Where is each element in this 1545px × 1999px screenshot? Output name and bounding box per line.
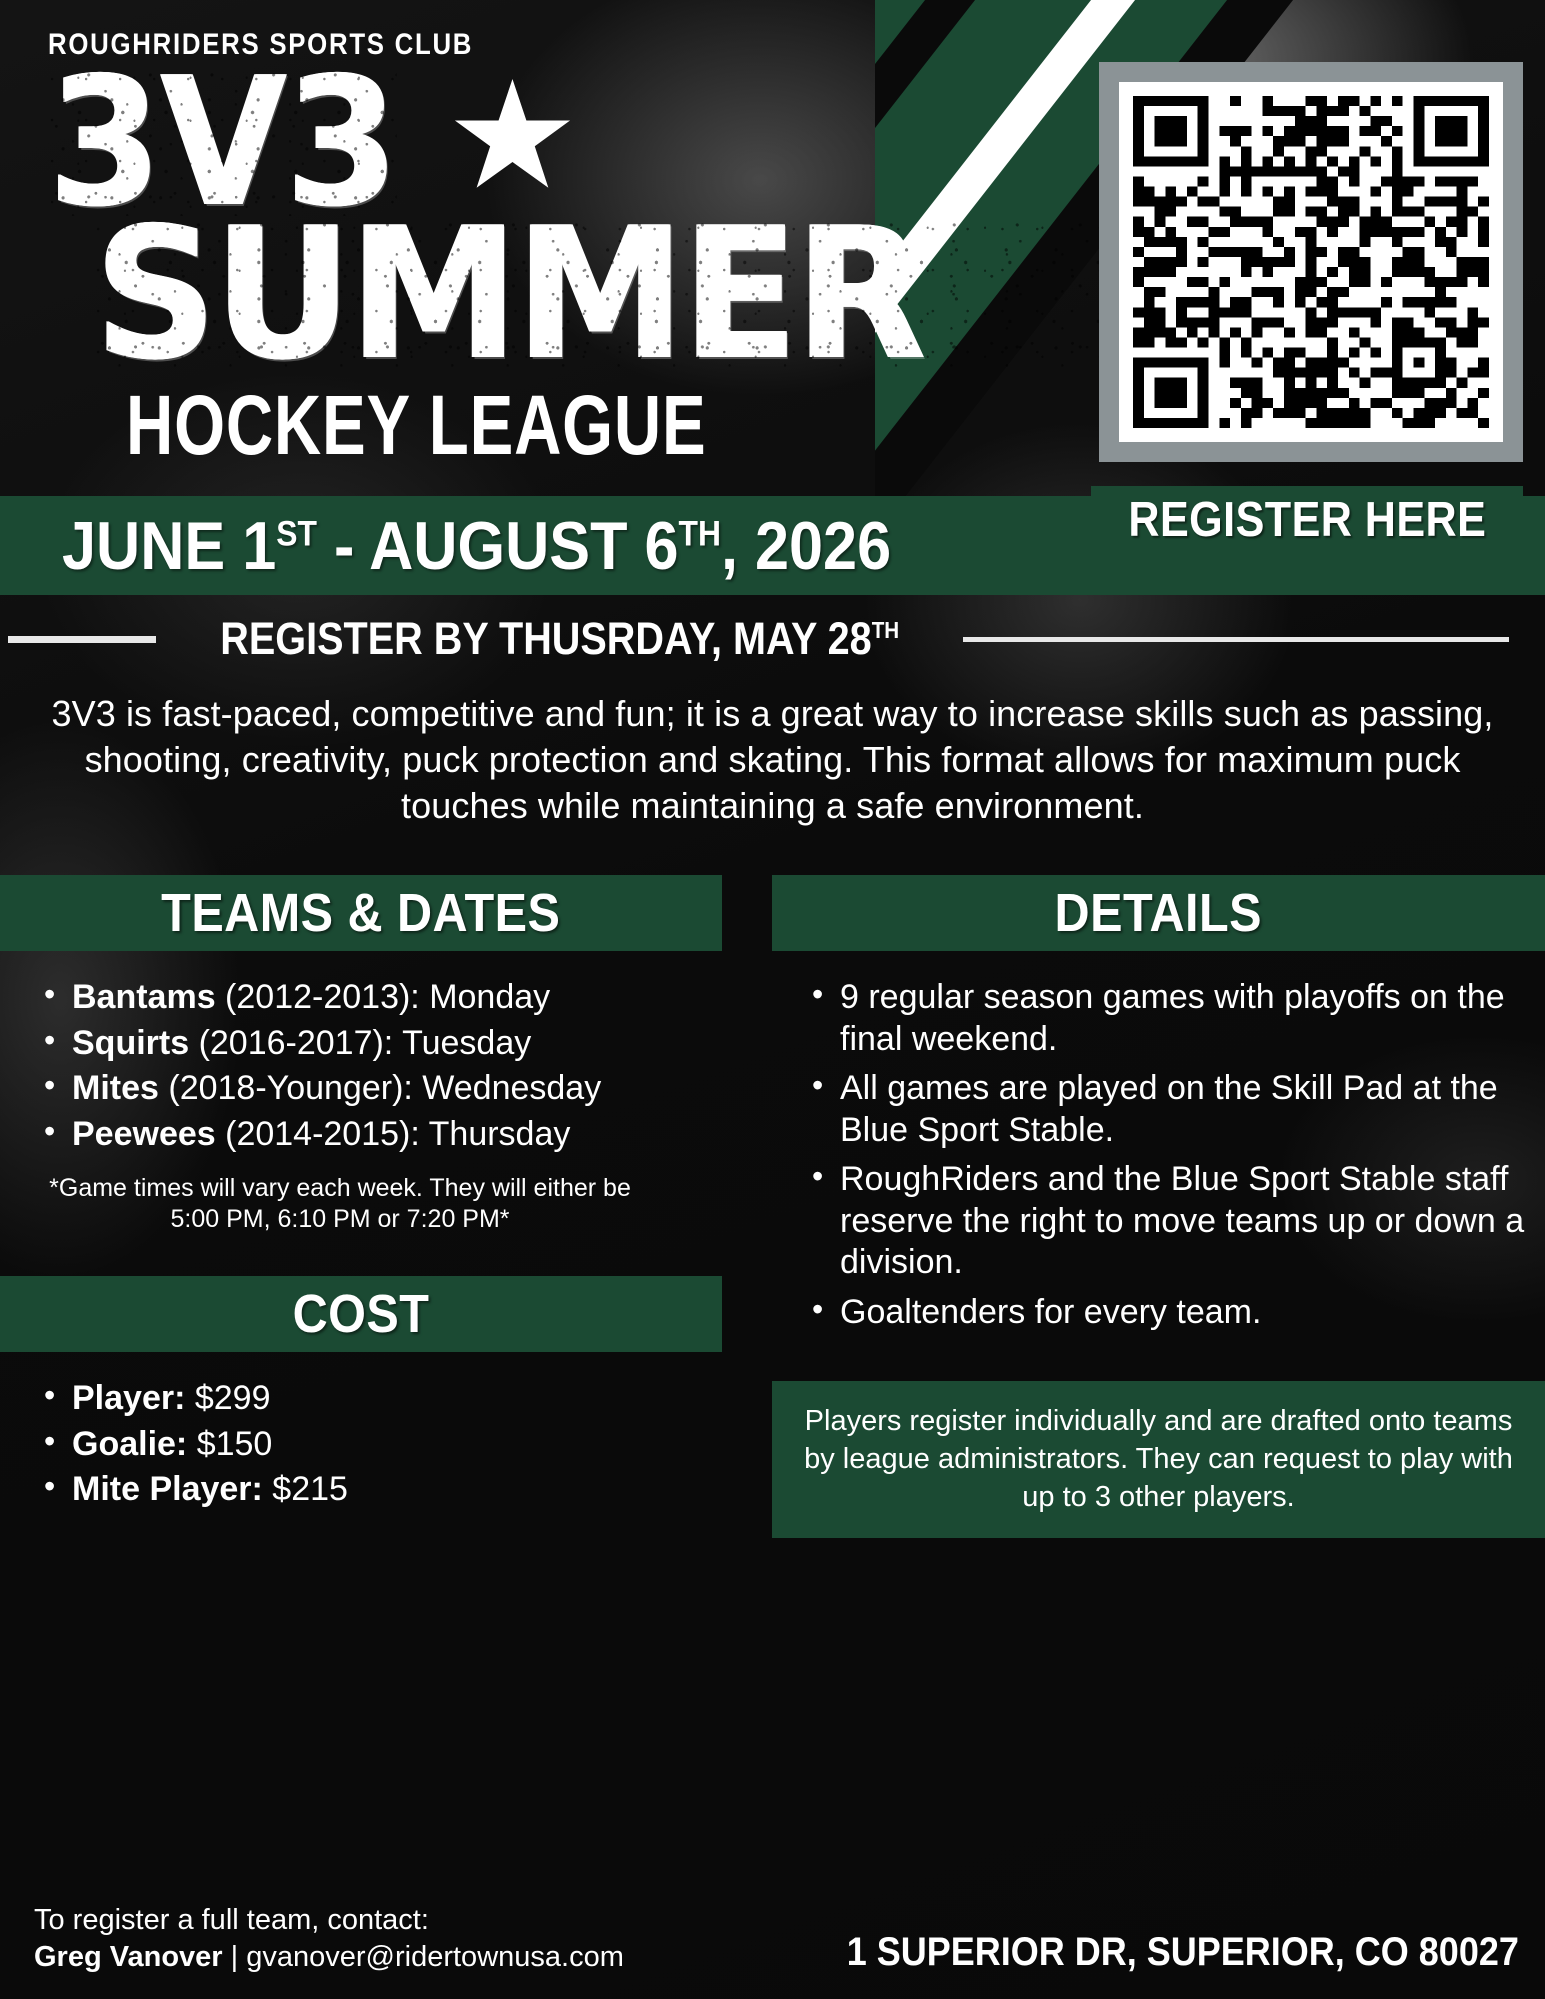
section-title-details: DETAILS (1055, 882, 1262, 944)
qr-code-icon[interactable] (1133, 96, 1489, 428)
team-detail: (2016-2017): Tuesday (189, 1024, 531, 1062)
team-name: Mites (72, 1069, 159, 1107)
register-by-pre: REGISTER BY THUSRDAY, MAY 28 (220, 613, 871, 664)
team-detail: (2014-2015): Thursday (216, 1115, 571, 1153)
contact-line: Greg Vanover | gvanover@ridertownusa.com (34, 1939, 624, 1977)
date-range: JUNE 1ST - AUGUST 6TH, 2026 (62, 507, 891, 585)
title-summer-text: SUMMER (94, 188, 923, 400)
contact-email[interactable]: gvanover@ridertownusa.com (246, 1941, 624, 1973)
cost-label: Mite Player: (72, 1470, 263, 1508)
section-header-cost: COST (0, 1276, 722, 1352)
body-columns: TEAMS & DATES Bantams (2012-2013): Monda… (0, 875, 1545, 1538)
date-range-pre: JUNE 1 (62, 508, 276, 584)
cost-label: Player: (72, 1379, 185, 1417)
team-detail: (2018-Younger): Wednesday (159, 1069, 601, 1107)
list-item: Mite Player: $215 (22, 1469, 730, 1510)
teams-list: Bantams (2012-2013): Monday Squirts (201… (22, 977, 730, 1155)
list-item: Peewees (2014-2015): Thursday (22, 1114, 730, 1155)
cost-label: Goalie: (72, 1425, 187, 1463)
date-ordinal-2: TH (679, 514, 721, 553)
registration-note: Players register individually and are dr… (772, 1381, 1545, 1538)
cost-list: Player: $299 Goalie: $150 Mite Player: $… (22, 1378, 730, 1510)
game-times-footnote: *Game times will vary each week. They wi… (40, 1173, 640, 1234)
list-item: All games are played on the Skill Pad at… (790, 1068, 1545, 1151)
qr-block[interactable]: REGISTER HERE (1099, 62, 1523, 554)
team-name: Bantams (72, 978, 216, 1016)
section-title-teams-dates: TEAMS & DATES (161, 882, 560, 944)
qr-frame (1099, 62, 1523, 462)
section-header-teams-dates: TEAMS & DATES (0, 875, 722, 951)
team-name: Peewees (72, 1115, 216, 1153)
cost-value: $215 (263, 1470, 348, 1508)
register-here-label: REGISTER HERE (1128, 492, 1486, 548)
team-detail: (2012-2013): Monday (216, 978, 551, 1016)
left-column: TEAMS & DATES Bantams (2012-2013): Monda… (0, 875, 730, 1514)
team-name: Squirts (72, 1024, 189, 1062)
register-by-ordinal: TH (872, 617, 899, 643)
register-here-button[interactable]: REGISTER HERE (1091, 486, 1523, 554)
cost-section: COST Player: $299 Goalie: $150 Mite Play… (0, 1276, 730, 1510)
date-range-mid: - AUGUST 6 (317, 508, 679, 584)
right-column: DETAILS 9 regular season games with play… (730, 875, 1545, 1538)
divider-right (963, 637, 1509, 642)
list-item: Squirts (2016-2017): Tuesday (22, 1023, 730, 1064)
contact-name: Greg Vanover (34, 1941, 223, 1973)
cost-value: $299 (185, 1379, 270, 1417)
intro-paragraph: 3V3 is fast-paced, competitive and fun; … (34, 691, 1511, 829)
footer: To register a full team, contact: Greg V… (0, 1902, 1545, 1977)
flyer-root: ROUGHRIDERS SPORTS CLUB 3V3 SUMMER HOCKE… (0, 0, 1545, 1999)
cost-value: $150 (187, 1425, 272, 1463)
contact-block: To register a full team, contact: Greg V… (34, 1902, 624, 1977)
section-title-cost: COST (293, 1283, 430, 1345)
contact-prompt: To register a full team, contact: (34, 1902, 624, 1940)
list-item: Bantams (2012-2013): Monday (22, 977, 730, 1018)
divider-left (8, 636, 156, 643)
register-by-row: REGISTER BY THUSRDAY, MAY 28TH (0, 595, 1545, 665)
details-list: 9 regular season games with playoffs on … (790, 977, 1545, 1333)
list-item: Goalie: $150 (22, 1424, 730, 1465)
contact-separator: | (223, 1941, 247, 1973)
list-item: Mites (2018-Younger): Wednesday (22, 1068, 730, 1109)
list-item: RoughRiders and the Blue Sport Stable st… (790, 1159, 1545, 1283)
list-item: 9 regular season games with playoffs on … (790, 977, 1545, 1060)
register-by-text: REGISTER BY THUSRDAY, MAY 28TH (220, 613, 899, 665)
star-icon (453, 79, 571, 197)
subtitle-hockey-league: HOCKEY LEAGUE (126, 377, 1233, 474)
list-item: Goaltenders for every team. (790, 1292, 1545, 1333)
date-range-post: , 2026 (721, 508, 891, 584)
date-ordinal-1: ST (276, 514, 317, 553)
list-item: Player: $299 (22, 1378, 730, 1419)
section-header-details: DETAILS (772, 875, 1545, 951)
venue-address: 1 SUPERIOR DR, SUPERIOR, CO 80027 (847, 1930, 1519, 1977)
qr-quiet-zone (1119, 82, 1503, 442)
